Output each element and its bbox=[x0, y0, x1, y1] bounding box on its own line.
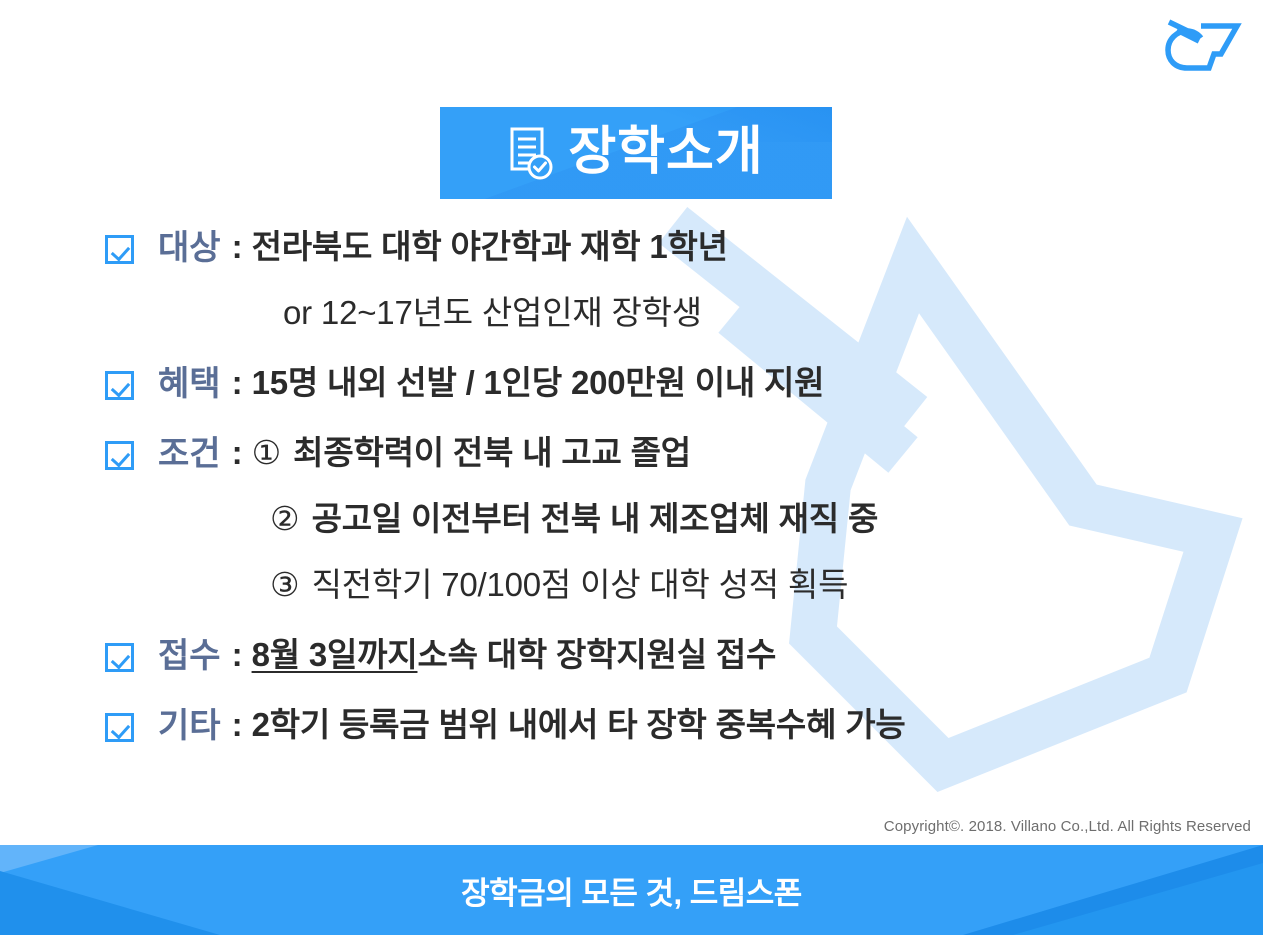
checkbox-icon[interactable] bbox=[105, 235, 134, 264]
list-item: 기타 : 2학기 등록금 범위 내에서 타 장학 중복수혜 가능 bbox=[0, 706, 1263, 758]
item-label: 조건 bbox=[158, 434, 221, 474]
document-check-icon bbox=[508, 127, 554, 181]
item-label: 대상 bbox=[158, 228, 221, 268]
checkbox-icon[interactable] bbox=[105, 371, 134, 400]
subitem-text: 공고일 이전부터 전북 내 제조업체 재직 중 bbox=[312, 500, 879, 539]
copyright-text: Copyright©. 2018. Villano Co.,Ltd. All R… bbox=[884, 818, 1251, 835]
list-subitem: ② 공고일 이전부터 전북 내 제조업체 재직 중 bbox=[0, 500, 1263, 552]
item-continuation-text: or 12~17년도 산업인재 장학생 bbox=[283, 294, 702, 333]
item-marker: ① bbox=[252, 434, 282, 473]
footer-tagline: 장학금의 모든 것, 드림스폰 bbox=[0, 845, 1263, 935]
list-item: 대상 : 전라북도 대학 야간학과 재학 1학년 bbox=[0, 228, 1263, 280]
item-text: 15명 내외 선발 / 1인당 200만원 이내 지원 bbox=[252, 364, 825, 403]
subitem-text: 직전학기 70/100점 이상 대학 성적 획득 bbox=[312, 566, 849, 605]
subitem-marker: ② bbox=[270, 500, 300, 539]
item-label: 접수 bbox=[158, 636, 221, 676]
checkbox-icon[interactable] bbox=[105, 713, 134, 742]
slide-root: 장학소개 대상 : 전라북도 대학 야간학과 재학 1학년 or 12~17년도… bbox=[0, 0, 1263, 935]
title-banner: 장학소개 bbox=[440, 107, 832, 199]
item-colon: : bbox=[232, 364, 243, 403]
list-item: 접수 : 8월 3일까지 소속 대학 장학지원실 접수 bbox=[0, 636, 1263, 688]
footer-bar: 장학금의 모든 것, 드림스폰 bbox=[0, 845, 1263, 935]
dreamspon-bird-logo-icon bbox=[1159, 8, 1251, 86]
list-subitem: ③ 직전학기 70/100점 이상 대학 성적 획득 bbox=[0, 566, 1263, 618]
item-colon: : bbox=[232, 636, 243, 675]
item-colon: : bbox=[232, 434, 243, 473]
item-label: 기타 bbox=[158, 706, 221, 746]
content-list: 대상 : 전라북도 대학 야간학과 재학 1학년 or 12~17년도 산업인재… bbox=[0, 228, 1263, 758]
checkbox-icon[interactable] bbox=[105, 643, 134, 672]
list-item: 조건 : ① 최종학력이 전북 내 고교 졸업 bbox=[0, 434, 1263, 486]
item-label: 혜택 bbox=[158, 364, 221, 404]
list-item: 혜택 : 15명 내외 선발 / 1인당 200만원 이내 지원 bbox=[0, 364, 1263, 416]
item-text: 전라북도 대학 야간학과 재학 1학년 bbox=[252, 228, 728, 267]
checkbox-icon[interactable] bbox=[105, 441, 134, 470]
page-title: 장학소개 bbox=[568, 126, 763, 178]
subitem-marker: ③ bbox=[270, 566, 300, 605]
item-text: 최종학력이 전북 내 고교 졸업 bbox=[293, 434, 691, 473]
item-text: 소속 대학 장학지원실 접수 bbox=[417, 636, 776, 675]
item-colon: : bbox=[232, 228, 243, 267]
item-colon: : bbox=[232, 706, 243, 745]
item-text: 2학기 등록금 범위 내에서 타 장학 중복수혜 가능 bbox=[252, 706, 906, 745]
item-deadline-text: 8월 3일까지 bbox=[252, 636, 418, 675]
list-item-continuation: or 12~17년도 산업인재 장학생 bbox=[0, 294, 1263, 346]
